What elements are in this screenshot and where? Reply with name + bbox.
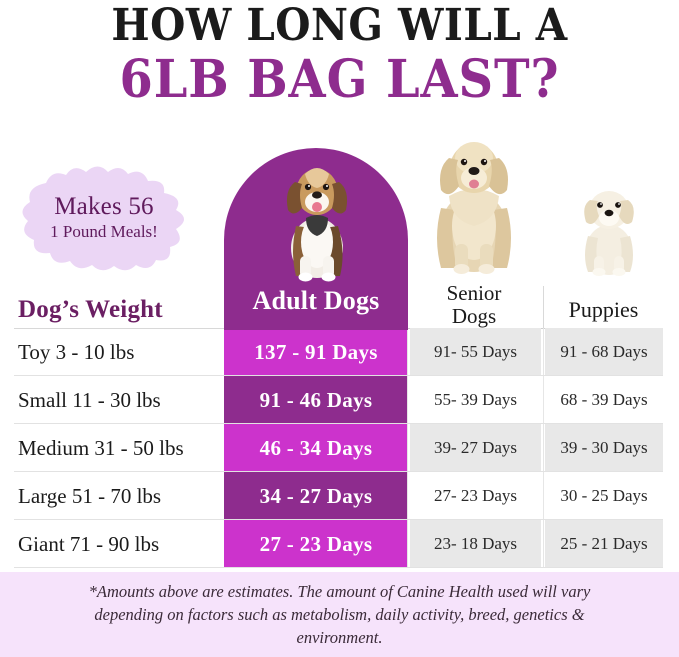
row-divider-2 [543,328,544,376]
cell-weight: Giant 71 - 90 lbs [18,520,214,568]
table-row: Small 11 - 30 lbs91 - 46 Days55- 39 Days… [14,376,663,424]
row-divider-1 [407,376,408,424]
row-divider-1 [407,472,408,520]
title-line-1: HOW LONG WILL A [27,2,652,50]
table-body: Toy 3 - 10 lbs137 - 91 Days91- 55 Days91… [14,328,663,568]
table-row: Giant 71 - 90 lbs27 - 23 Days23- 18 Days… [14,520,663,568]
cell-senior: 23- 18 Days [410,520,541,568]
cell-puppies: 91 - 68 Days [545,328,663,376]
cell-weight: Medium 31 - 50 lbs [18,424,214,472]
cell-puppies: 39 - 30 Days [545,424,663,472]
cell-weight: Toy 3 - 10 lbs [18,328,214,376]
badge-text-group: Makes 56 1 Pound Meals! [18,163,190,271]
badge-main-text: Makes 56 [54,193,154,221]
page-title: HOW LONG WILL A 6LB BAG LAST? [0,0,679,108]
row-divider-1 [407,424,408,472]
badge-sub-text: 1 Pound Meals! [50,222,158,242]
cell-adult: 27 - 23 Days [224,520,408,568]
column-header-weight: Dog’s Weight [18,298,163,322]
senior-dog-photo [417,128,531,276]
cell-weight: Large 51 - 70 lbs [18,472,214,520]
cell-adult: 91 - 46 Days [224,376,408,424]
column-header-adult: Adult Dogs [224,286,408,316]
cell-puppies: 30 - 25 Days [545,472,663,520]
table-row: Medium 31 - 50 lbs46 - 34 Days39- 27 Day… [14,424,663,472]
cell-weight: Small 11 - 30 lbs [18,376,214,424]
column-header-senior-line2: Dogs [452,304,496,328]
cell-adult: 137 - 91 Days [224,328,408,376]
footer-text: *Amounts above are estimates. The amount… [60,580,620,649]
footer-disclaimer: *Amounts above are estimates. The amount… [0,572,679,657]
column-header-puppies: Puppies [544,298,663,322]
row-divider-1 [407,520,408,568]
row-divider-2 [543,472,544,520]
cell-adult: 34 - 27 Days [224,472,408,520]
cell-puppies: 68 - 39 Days [545,376,663,424]
row-rule [14,567,663,568]
row-divider-2 [543,520,544,568]
row-divider-1 [407,328,408,376]
adult-dog-photo [262,156,372,284]
cell-senior: 39- 27 Days [410,424,541,472]
title-line-2: 6LB BAG LAST? [27,52,652,108]
column-header-senior-line1: Senior [447,281,502,305]
row-divider-2 [543,424,544,472]
infographic-page: HOW LONG WILL A 6LB BAG LAST? Makes 56 1… [0,0,679,657]
table-row: Toy 3 - 10 lbs137 - 91 Days91- 55 Days91… [14,328,663,376]
puppy-photo [566,182,652,278]
row-divider-2 [543,376,544,424]
cell-adult: 46 - 34 Days [224,424,408,472]
column-header-senior: Senior Dogs [408,282,540,328]
cell-senior: 91- 55 Days [410,328,541,376]
cell-senior: 27- 23 Days [410,472,541,520]
table-row: Large 51 - 70 lbs34 - 27 Days27- 23 Days… [14,472,663,520]
makes-meals-badge: Makes 56 1 Pound Meals! [18,163,190,271]
cell-senior: 55- 39 Days [410,376,541,424]
cell-puppies: 25 - 21 Days [545,520,663,568]
